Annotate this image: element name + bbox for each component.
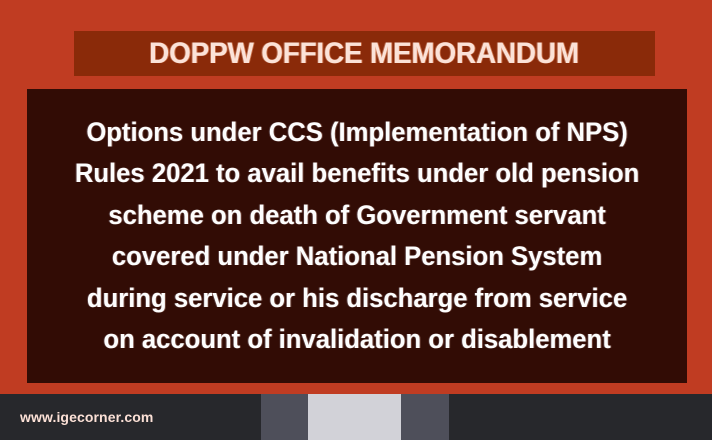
memo-line: on account of invalidation or disablemen… — [75, 319, 639, 361]
memo-line: during service or his discharge from ser… — [75, 278, 639, 320]
footer-swatch-slate-right — [401, 394, 449, 440]
page-title: DOPPW OFFICE MEMORANDUM — [150, 39, 580, 69]
footer-swatch-light-gray — [308, 394, 401, 440]
memo-line: scheme on death of Government servant — [75, 195, 639, 237]
site-url-label[interactable]: www.igecorner.com — [20, 394, 153, 440]
memo-body-text: Options under CCS (Implementation of NPS… — [75, 112, 639, 361]
memo-poster: DOPPW OFFICE MEMORANDUM Options under CC… — [0, 0, 712, 440]
footer-swatch-slate-left — [261, 394, 308, 440]
header-banner: DOPPW OFFICE MEMORANDUM — [74, 31, 655, 76]
memo-panel: Options under CCS (Implementation of NPS… — [27, 89, 687, 383]
memo-line: Options under CCS (Implementation of NPS… — [75, 112, 639, 154]
footer-bar: www.igecorner.com — [0, 394, 712, 440]
memo-line: covered under National Pension System — [75, 236, 639, 278]
memo-line: Rules 2021 to avail benefits under old p… — [75, 153, 639, 195]
